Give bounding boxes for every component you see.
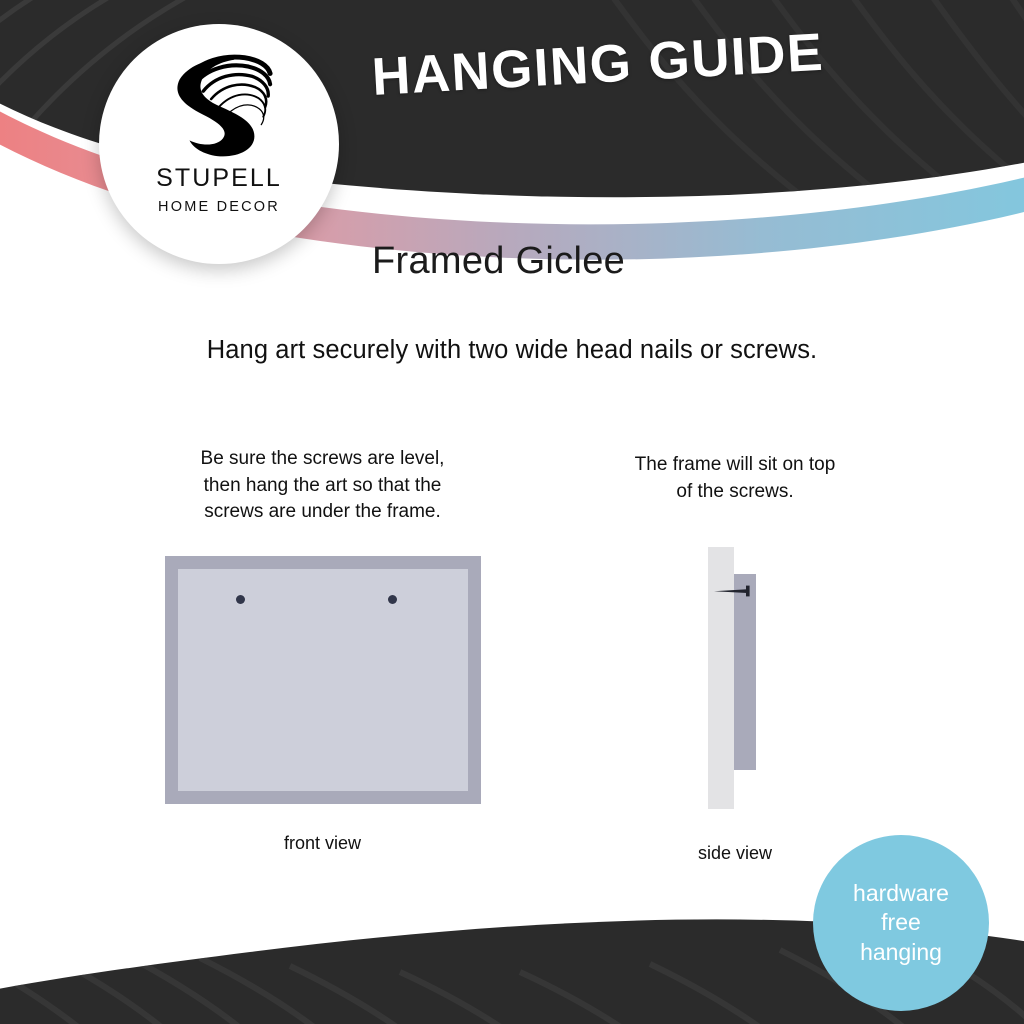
brand-tagline: HOME DECOR <box>158 200 280 215</box>
front-caption-line-3: screws are under the frame. <box>150 499 495 526</box>
front-caption-line-2: then hang the art so that the <box>150 473 495 500</box>
hardware-free-hanging-badge: hardware free hanging <box>813 835 989 1011</box>
side-view-frame <box>734 574 756 770</box>
screw-dot-right-icon <box>388 595 397 604</box>
badge-line-1: hardware <box>853 879 949 908</box>
front-view-caption: Be sure the screws are level, then hang … <box>150 446 495 526</box>
front-caption-line-1: Be sure the screws are level, <box>150 446 495 473</box>
side-view-diagram <box>708 547 780 809</box>
side-view-label: side view <box>635 843 835 864</box>
front-view-label: front view <box>160 833 485 854</box>
side-view-caption: The frame will sit on top of the screws. <box>600 452 870 505</box>
side-caption-line-2: of the screws. <box>600 479 870 506</box>
brand-logo-badge: STUPELL HOME DECOR <box>99 24 339 264</box>
screw-icon <box>713 585 757 597</box>
hanging-guide-page: STUPELL HOME DECOR HANGING GUIDE Framed … <box>0 0 1024 1024</box>
screw-dot-left-icon <box>236 595 245 604</box>
main-instruction-text: Hang art securely with two wide head nai… <box>0 336 1024 365</box>
badge-line-3: hanging <box>860 938 942 967</box>
badge-line-2: free <box>881 908 921 937</box>
product-type-label: Framed Giclee <box>372 240 625 283</box>
page-title: HANGING GUIDE <box>370 22 825 108</box>
brand-name: STUPELL <box>156 166 282 191</box>
front-view-mat <box>178 569 468 791</box>
front-view-diagram <box>165 556 481 804</box>
stupell-swoosh-logo-icon <box>160 42 278 160</box>
side-caption-line-1: The frame will sit on top <box>600 452 870 479</box>
